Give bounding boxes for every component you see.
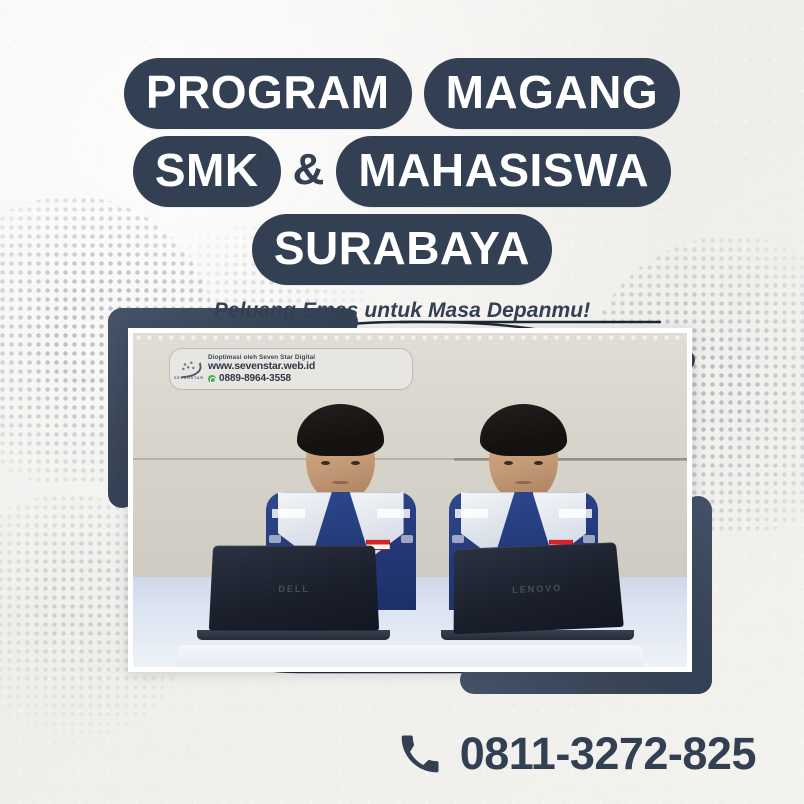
watermark-phone-row: 0889-8964-3558 (208, 373, 404, 384)
student-right-mouth (515, 481, 532, 484)
headline-line-2: SMK & MAHASISWA (0, 136, 804, 207)
sevenstar-logo-icon: SEVENSTAR (176, 356, 202, 382)
student-right-eye-right (534, 461, 543, 465)
whatsapp-icon (208, 375, 216, 383)
poster-canvas: PROGRAM MAGANG SMK & MAHASISWA SURABAYA … (0, 0, 804, 804)
headline-line-1: PROGRAM MAGANG (0, 58, 804, 129)
laptop-left-base (197, 630, 390, 640)
headline-word-program: PROGRAM (124, 58, 412, 129)
headline-ampersand: & (293, 148, 325, 195)
student-left-eye-left (321, 461, 330, 465)
laptop-right: LENOVO (454, 544, 620, 640)
student-right-head (489, 417, 558, 501)
watermark-website: www.sevenstar.web.id (208, 361, 404, 373)
student-left-shoulder-stripe-left (272, 509, 305, 518)
student-right-eye-left (504, 461, 513, 465)
headline-block: PROGRAM MAGANG SMK & MAHASISWA SURABAYA … (0, 58, 804, 323)
student-left-badge-right (401, 535, 413, 543)
photo-white-matte: PIAN (128, 328, 692, 672)
laptop-right-lid: LENOVO (454, 543, 624, 635)
watermark-text-block: Dioptimasi oleh Seven Star Digital www.s… (208, 354, 404, 384)
student-left-shoulder-stripe-right (377, 509, 410, 518)
headline-word-mahasiswa: MAHASISWA (336, 136, 671, 207)
watermark-phone: 0889-8964-3558 (219, 373, 291, 384)
photo-frame: PIAN (100, 300, 720, 700)
scene-desk-top (177, 645, 642, 667)
photo-perforation-strip (133, 333, 687, 342)
headline-word-smk: SMK (133, 136, 281, 207)
phone-number-text: 0811-3272-825 (460, 731, 756, 776)
laptop-left-lid: DELL (208, 546, 379, 631)
student-left-eye-right (351, 461, 360, 465)
student-right-badge-right (583, 535, 595, 543)
student-right-shoulder-stripe-left (455, 509, 488, 518)
watermark-badge: SEVENSTAR Dioptimasi oleh Seven Star Dig… (169, 348, 413, 390)
laptop-left-brand: DELL (278, 584, 310, 594)
laptop-left: DELL (211, 544, 377, 640)
student-right-shoulder-stripe-right (559, 509, 592, 518)
student-right-badge-left (452, 535, 464, 543)
headline-subtitle: Peluang Emas untuk Masa Depanmu! (0, 299, 804, 323)
headline-line-3: SURABAYA (0, 214, 804, 285)
sevenstar-orb-icon (179, 359, 199, 375)
headline-word-magang: MAGANG (424, 58, 681, 129)
student-left-mouth (332, 481, 349, 484)
phone-icon (398, 732, 442, 776)
headline-word-surabaya: SURABAYA (252, 214, 552, 285)
laptop-right-brand: LENOVO (512, 583, 562, 595)
photo-image: PIAN (133, 333, 687, 667)
student-left-badge-left (269, 535, 281, 543)
student-left-head (306, 417, 375, 501)
footer-contact[interactable]: 0811-3272-825 (398, 731, 756, 776)
